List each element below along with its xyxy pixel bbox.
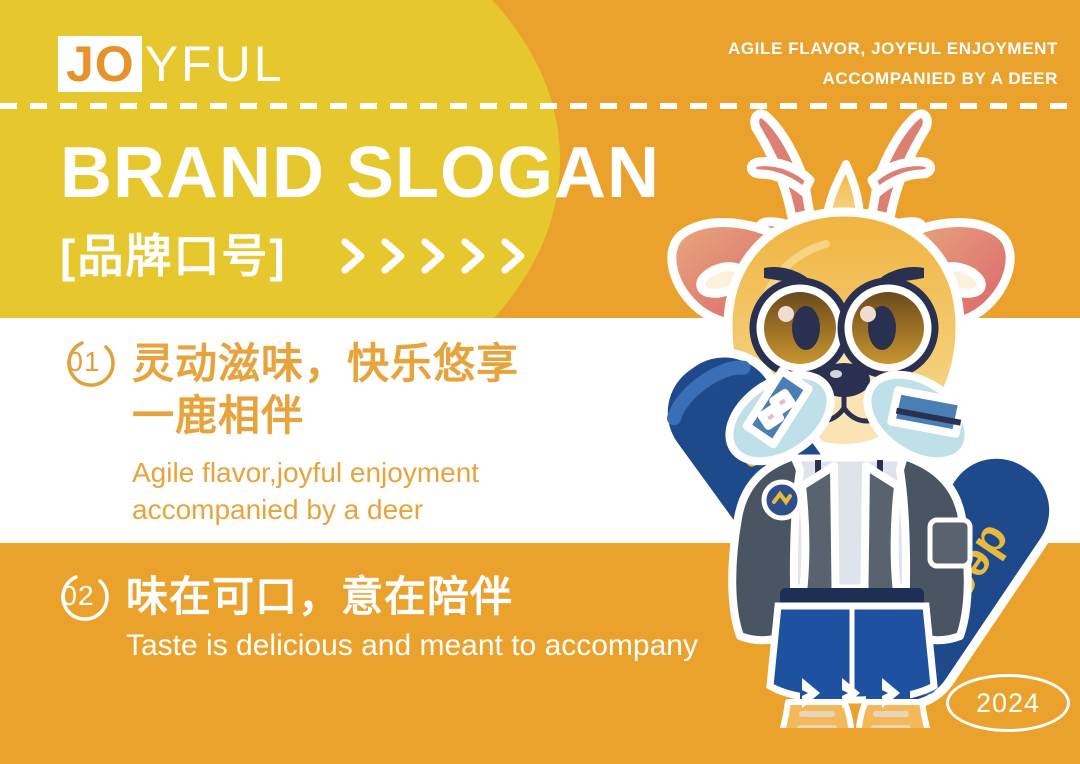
chevron-right-icon xyxy=(499,236,529,276)
chevron-right-icon xyxy=(459,236,489,276)
section-01-badge: 01 xyxy=(56,338,120,388)
section-01-cn-line-1: 灵动滋味，快乐悠享 xyxy=(132,338,519,390)
brand-logo: JO YFUL xyxy=(58,35,285,93)
chevron-arrow-group xyxy=(339,236,529,276)
section-02-text: 味在可口，意在陪伴 Taste is delicious and meant t… xyxy=(126,572,698,666)
brand-slogan-cn: [品牌口号] xyxy=(60,228,287,284)
section-02-cn-line-1: 味在可口，意在陪伴 xyxy=(126,572,698,622)
deer-mascot: joyful deer xyxy=(660,88,1080,728)
section-01-en-line-1: Agile flavor,joyful enjoyment xyxy=(132,454,519,491)
brand-slogan-row: [品牌口号] xyxy=(60,228,529,284)
chevron-right-icon xyxy=(419,236,449,276)
section-01-cn-line-2: 一鹿相伴 xyxy=(132,390,519,442)
year-text: 2024 xyxy=(976,688,1040,719)
chevron-double-right-icon xyxy=(800,676,836,715)
section-02-badge: 02 xyxy=(50,572,114,622)
logo-highlight-box: JO xyxy=(58,36,142,92)
section-01-text: 灵动滋味，快乐悠享 一鹿相伴 Agile flavor,joyful enjoy… xyxy=(132,338,519,528)
section-02-number: 02 xyxy=(50,572,106,620)
brand-slogan-en: BRAND SLOGAN xyxy=(60,133,660,213)
eyebrow-line-1: AGILE FLAVOR, JOYFUL ENJOYMENT xyxy=(728,34,1058,64)
section-01: 01 灵动滋味，快乐悠享 一鹿相伴 Agile flavor,joyful en… xyxy=(56,338,519,528)
logo-yful-text: YFUL xyxy=(145,38,285,90)
chevron-right-icon xyxy=(339,236,369,276)
footer-arrow-group xyxy=(800,676,916,715)
poster-canvas: JO YFUL AGILE FLAVOR, JOYFUL ENJOYMENT A… xyxy=(0,0,1080,764)
chevron-double-right-icon xyxy=(840,676,876,715)
section-01-number: 01 xyxy=(56,338,112,386)
section-02-en-line-1: Taste is delicious and meant to accompan… xyxy=(126,626,698,666)
eyebrow-tagline: AGILE FLAVOR, JOYFUL ENJOYMENT ACCOMPANI… xyxy=(728,34,1058,94)
section-02: 02 味在可口，意在陪伴 Taste is delicious and mean… xyxy=(50,572,698,666)
logo-jo-text: JO xyxy=(66,38,135,90)
chevron-right-icon xyxy=(379,236,409,276)
eyebrow-line-2: ACCOMPANIED BY A DEER xyxy=(728,64,1058,94)
chevron-double-right-icon xyxy=(880,676,916,715)
section-01-en-line-2: accompanied by a deer xyxy=(132,491,519,528)
year-badge: 2024 xyxy=(946,674,1070,732)
